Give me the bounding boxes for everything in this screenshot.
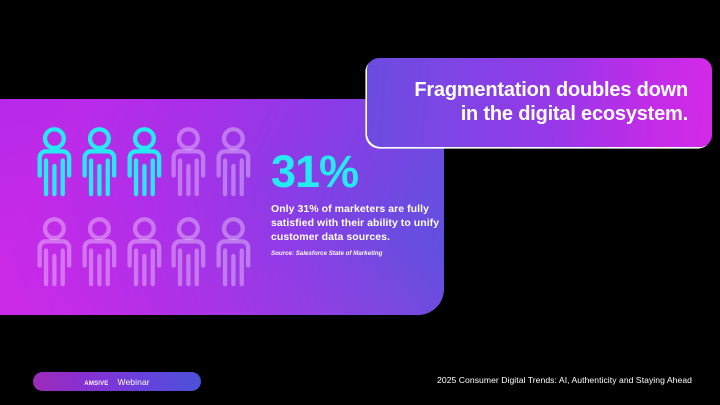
person-icon <box>211 117 256 207</box>
amsive-logo: amsive <box>84 377 108 387</box>
callout-line-2: in the digital ecosystem. <box>414 103 688 127</box>
person-icon <box>166 207 211 297</box>
person-icon <box>77 117 122 207</box>
person-icon <box>77 207 122 297</box>
slide-canvas: 31% Only 31% of marketers are fully sati… <box>0 0 720 405</box>
callout-heading: Fragmentation doubles down in the digita… <box>396 79 712 126</box>
person-icon <box>32 117 77 207</box>
callout-line-1: Fragmentation doubles down <box>414 79 688 101</box>
pictogram-people-grid <box>32 117 256 297</box>
callout-banner: Fragmentation doubles down in the digita… <box>367 58 712 147</box>
brand-webinar-label: Webinar <box>118 377 150 387</box>
person-icon <box>122 117 167 207</box>
stat-source: Source: Salesforce State of Marketing <box>271 250 441 257</box>
person-icon <box>32 207 77 297</box>
stat-text-block: 31% Only 31% of marketers are fully sati… <box>271 149 441 257</box>
stat-number: 31% <box>271 149 441 194</box>
person-icon <box>122 207 167 297</box>
person-icon <box>166 117 211 207</box>
person-icon <box>211 207 256 297</box>
brand-pill: amsive Webinar <box>33 372 201 391</box>
deck-title: 2025 Consumer Digital Trends: AI, Authen… <box>437 375 692 385</box>
stat-description: Only 31% of marketers are fully satisfie… <box>271 203 441 245</box>
